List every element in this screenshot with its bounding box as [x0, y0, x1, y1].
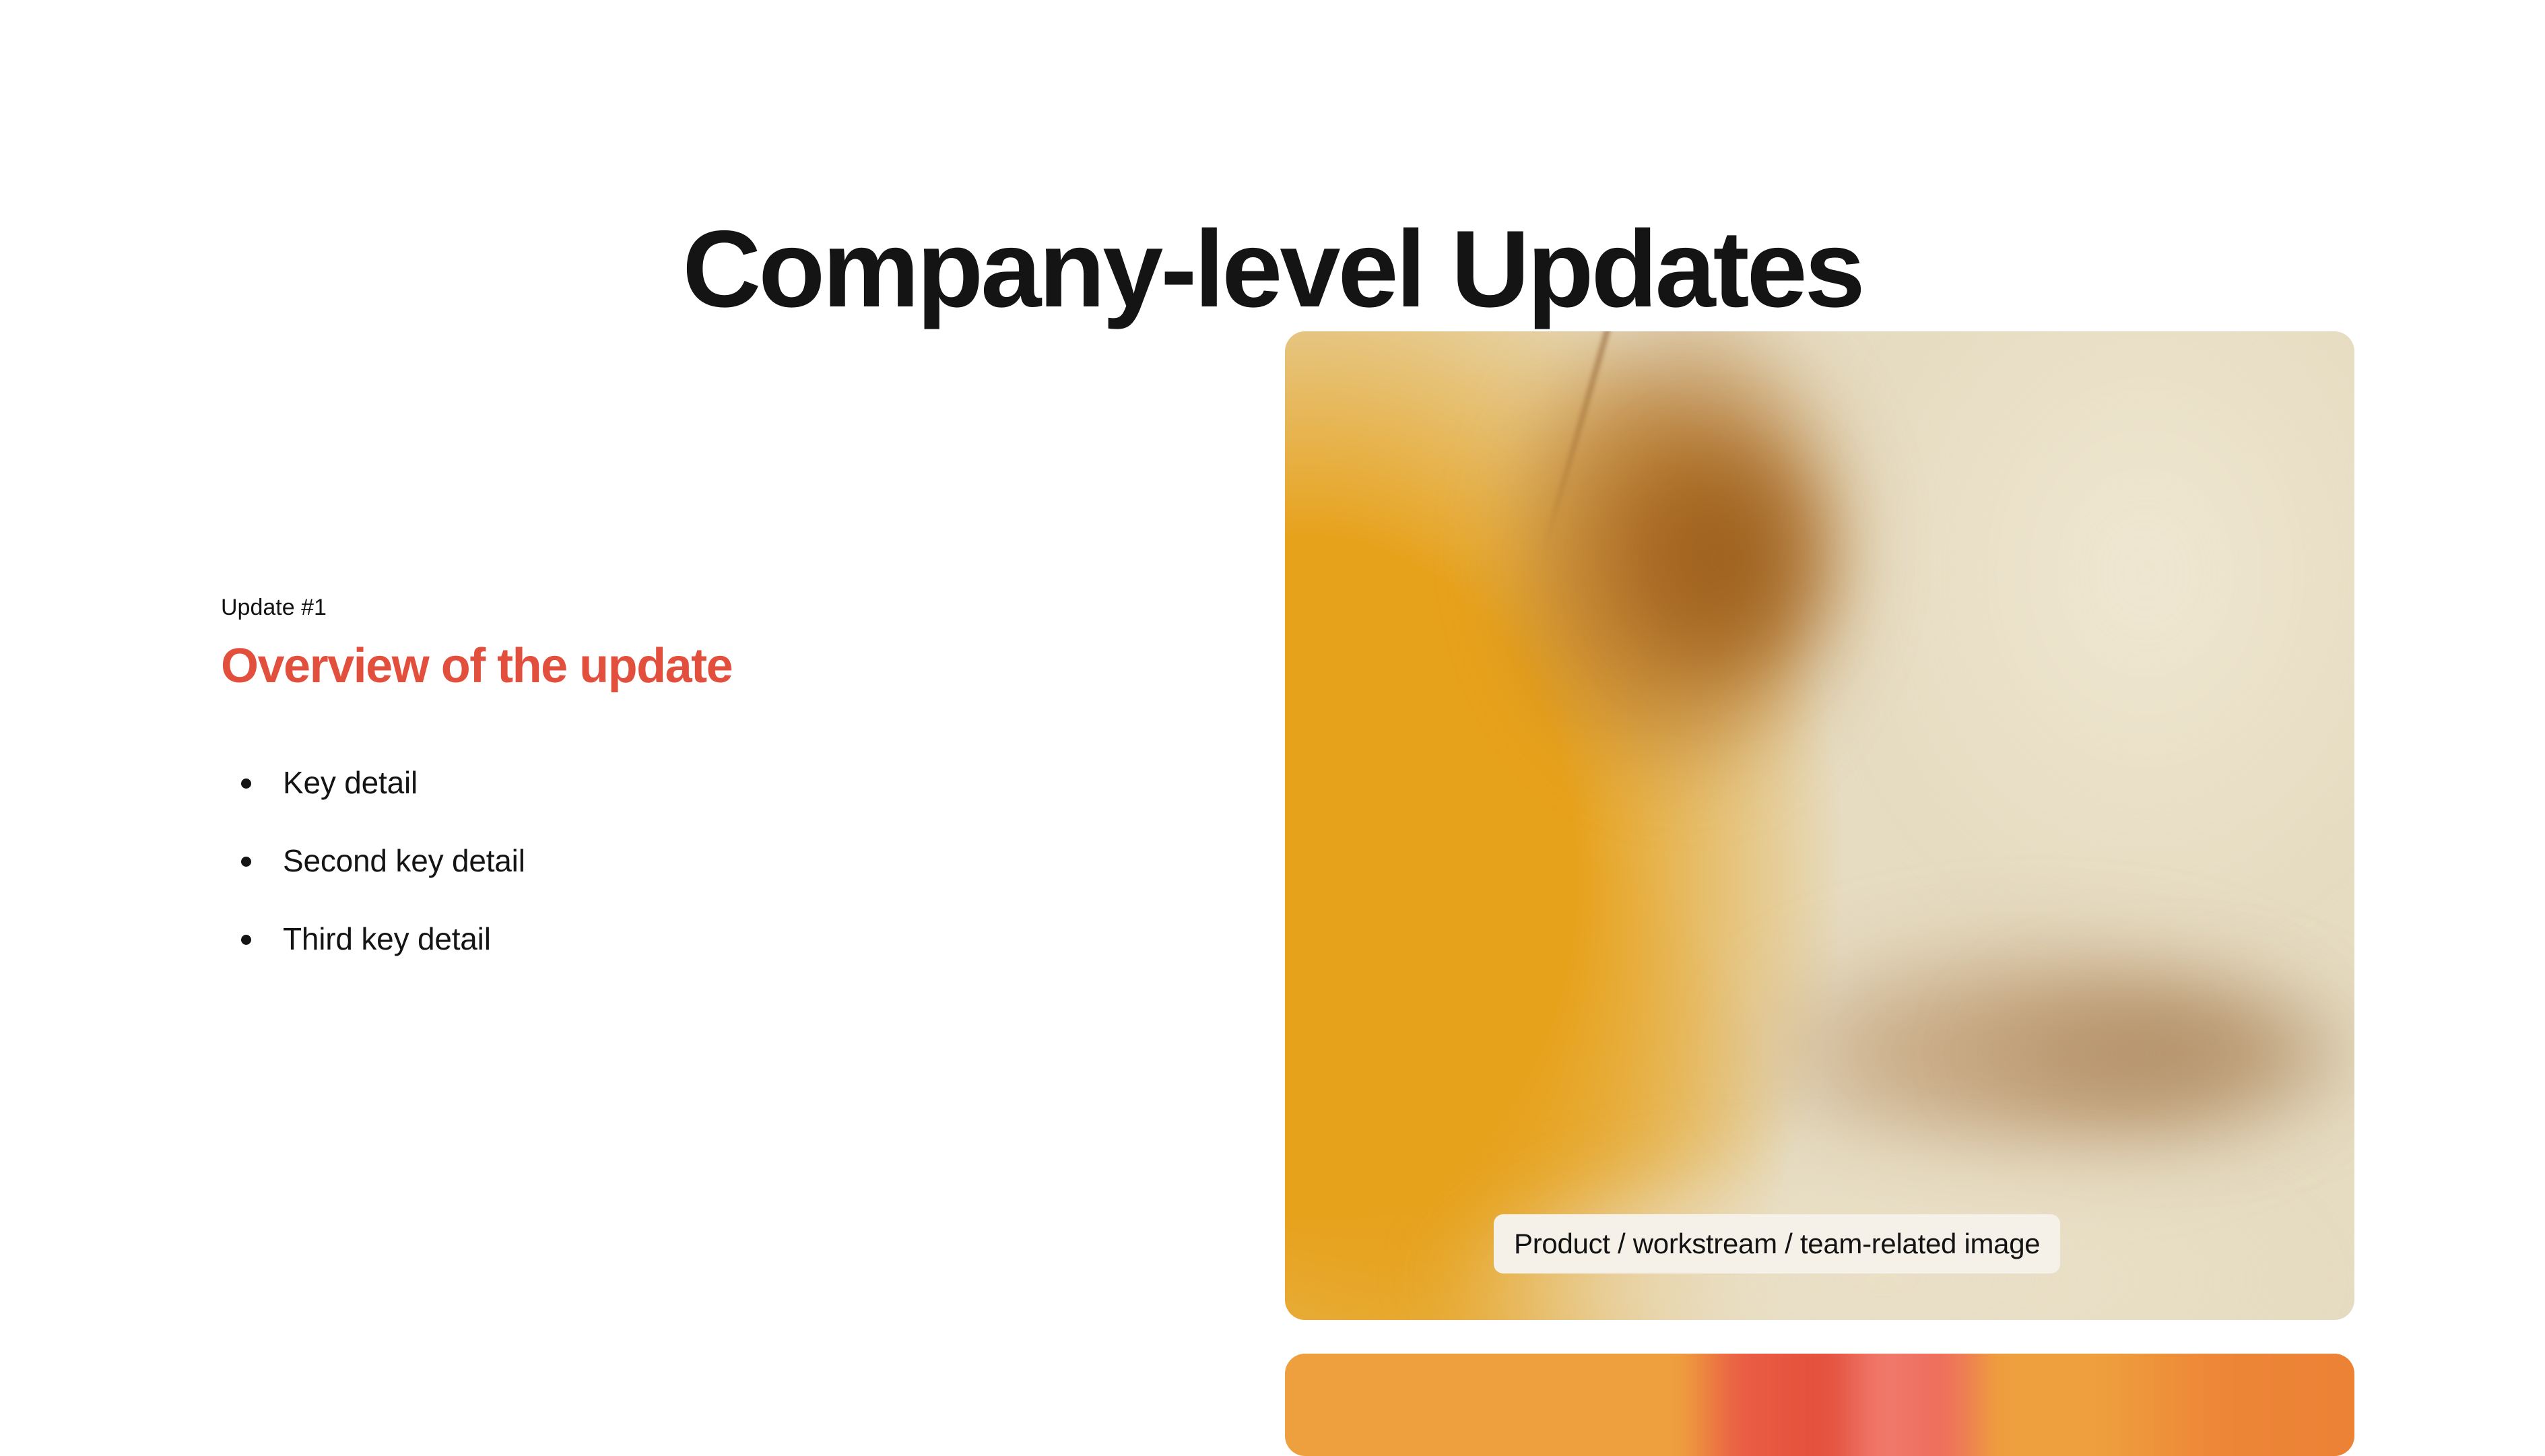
page-title: Company-level Updates	[0, 215, 2545, 324]
secondary-image-card[interactable]	[1285, 1354, 2354, 1456]
list-item-label: Key detail	[283, 765, 418, 800]
media-column: Product / workstream / team-related imag…	[1285, 331, 2354, 1456]
image-diagonal-streak	[1540, 331, 1614, 559]
image-gradient-sienna	[1456, 331, 1948, 845]
image-gradient-lower-cream	[1370, 1102, 2354, 1320]
primary-image-card[interactable]: Product / workstream / team-related imag…	[1285, 331, 2354, 1320]
image-caption-badge: Product / workstream / team-related imag…	[1494, 1214, 2060, 1273]
update-text-column: Update #1 Overview of the update Key det…	[221, 593, 1177, 954]
update-heading: Overview of the update	[221, 638, 1177, 694]
image-gradient-coral	[1681, 1354, 2002, 1456]
list-item-label: Third key detail	[283, 921, 491, 956]
image-gradient-coral-highlight	[1841, 1354, 1991, 1456]
image-gradient-sienna-core	[1563, 391, 1884, 727]
image-gradient-tan-core	[1905, 944, 2354, 1162]
update-eyebrow-label: Update #1	[221, 593, 1177, 622]
image-gradient-amber	[1285, 331, 2354, 1320]
bullet-dot-icon	[241, 779, 251, 789]
list-item: Second key detail	[221, 845, 1177, 876]
image-gradient-tan	[1649, 885, 2354, 1221]
image-gradient-orange	[2098, 1354, 2354, 1456]
bullet-dot-icon	[241, 935, 251, 945]
list-item-label: Second key detail	[283, 843, 525, 878]
image-gradient-cream	[1734, 331, 2354, 1024]
list-item: Key detail	[221, 767, 1177, 798]
list-item: Third key detail	[221, 923, 1177, 954]
bullet-dot-icon	[241, 857, 251, 867]
key-detail-list: Key detail Second key detail Third key d…	[221, 767, 1177, 954]
